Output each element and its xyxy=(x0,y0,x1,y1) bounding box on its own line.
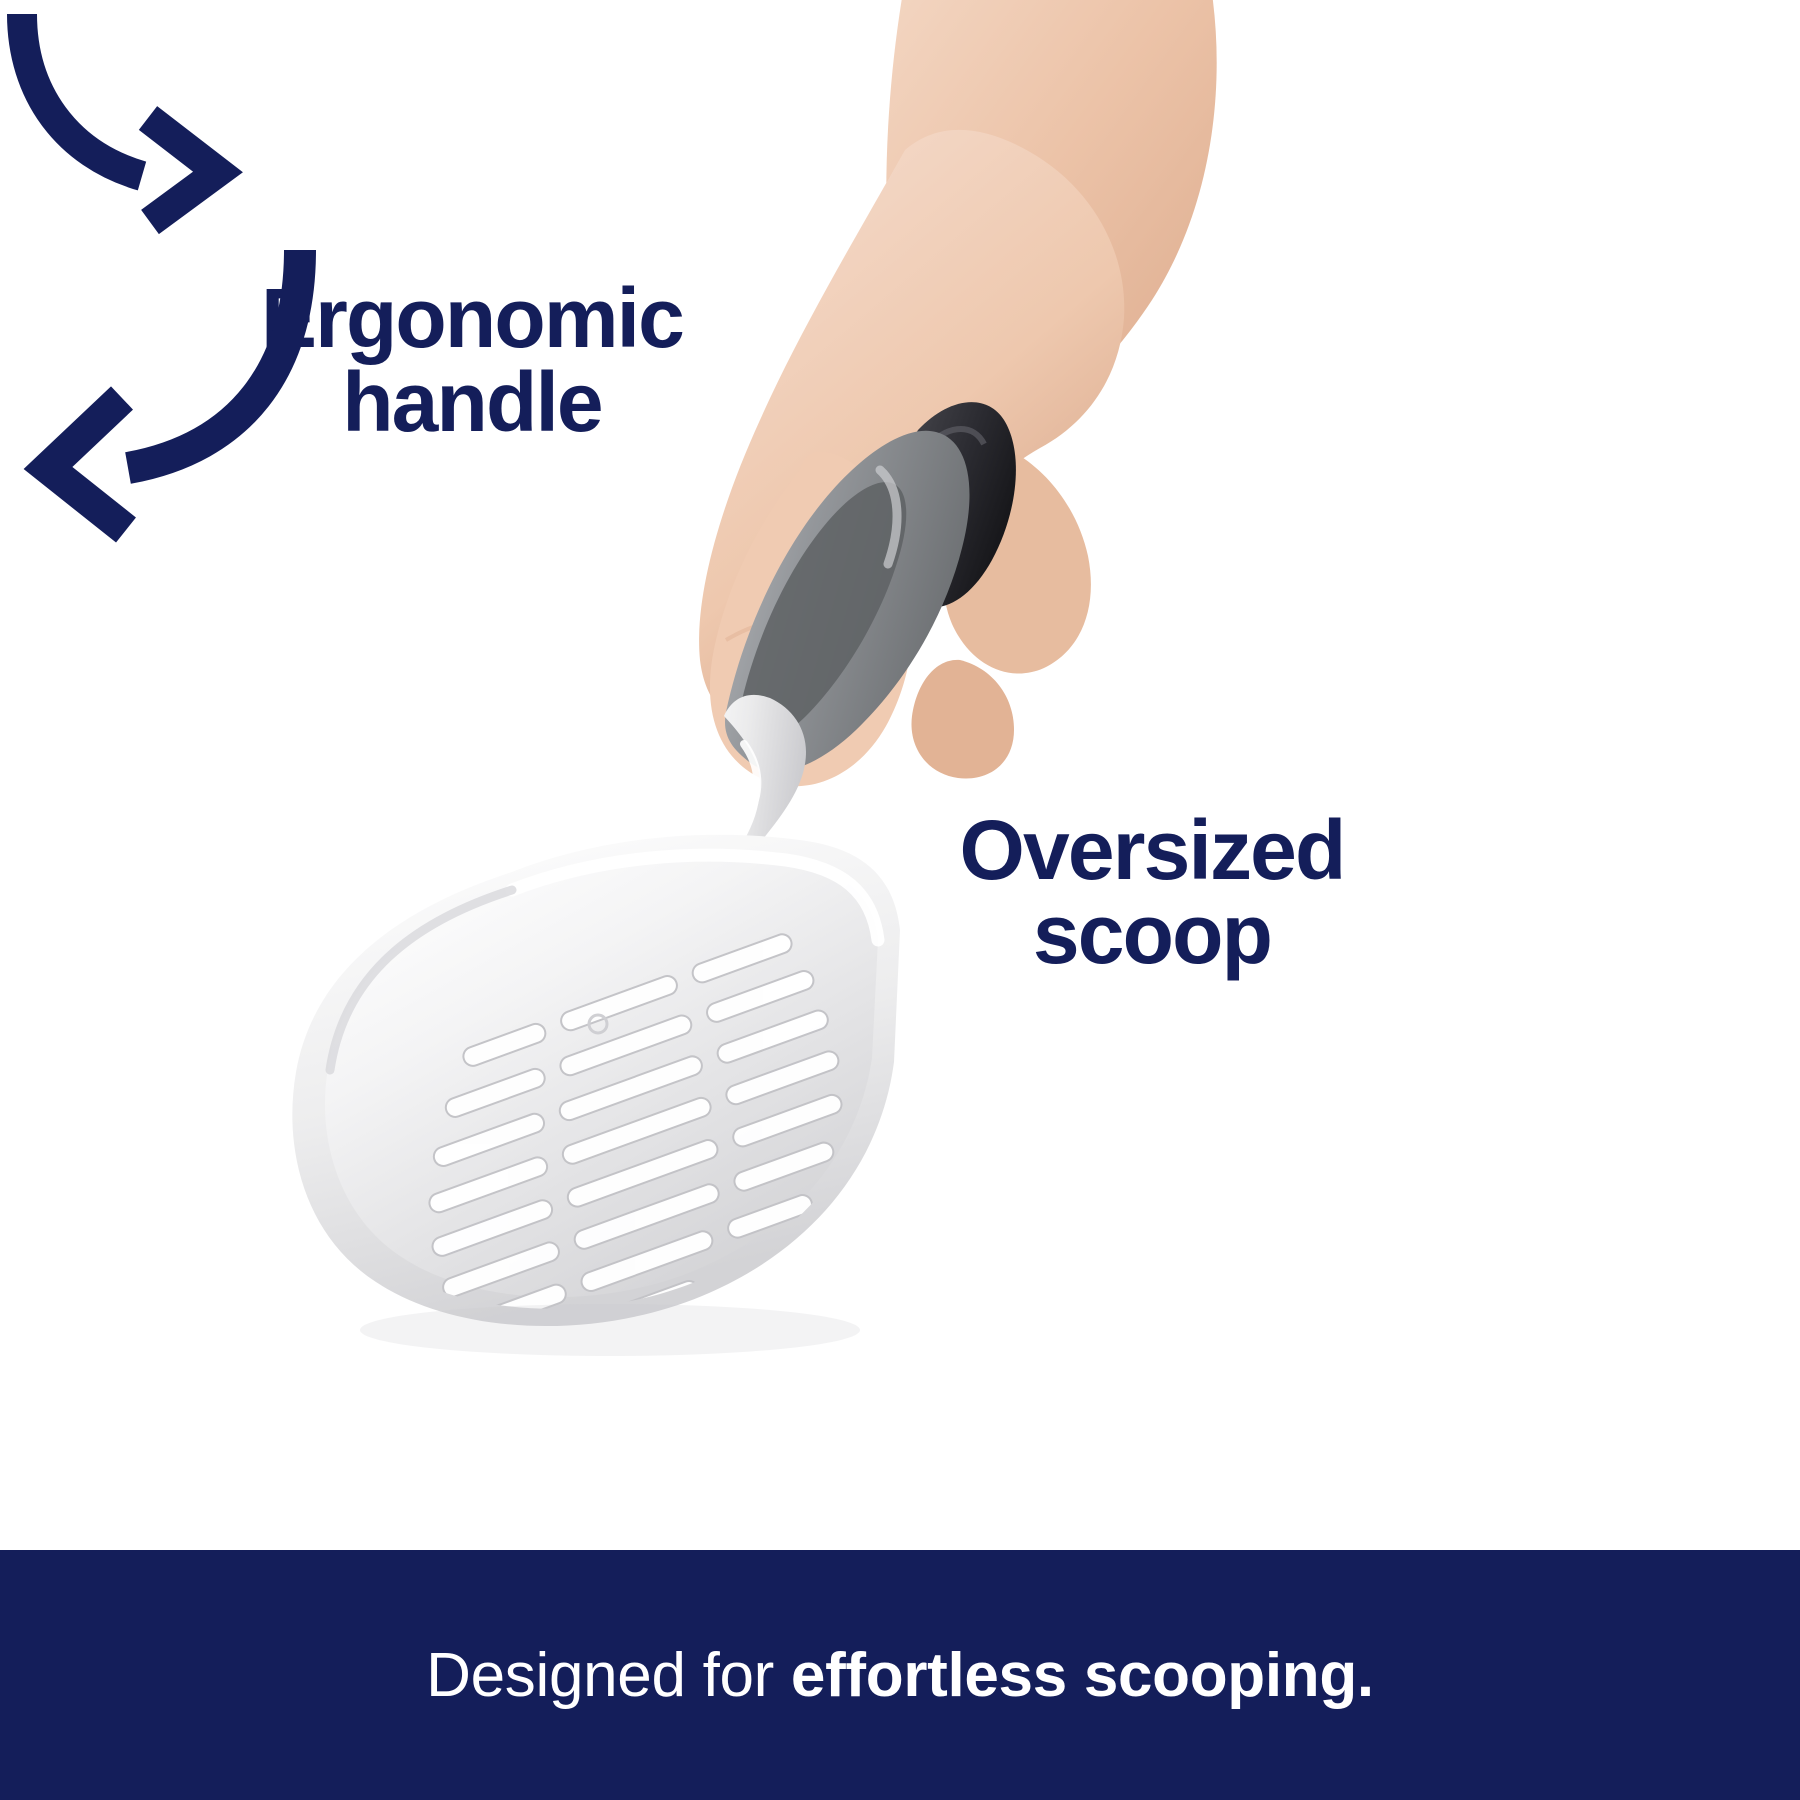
callout-label-oversized-scoop: Oversized scoop xyxy=(902,808,1402,976)
scoop-basket xyxy=(292,835,902,1379)
bottom-banner: Designed for effortless scooping. xyxy=(0,1550,1800,1800)
banner-tagline-emphasis: effortless scooping. xyxy=(791,1641,1374,1710)
banner-tagline-prefix: Designed for xyxy=(426,1641,791,1710)
callout-arrow-ergonomic-handle xyxy=(0,0,300,230)
curved-arrow-left-down-icon xyxy=(0,230,340,560)
curved-arrow-right-down-icon xyxy=(0,0,300,230)
callout-arrow-oversized-scoop xyxy=(0,230,340,560)
product-feature-image: Ergonomic handle Oversized scoop Designe… xyxy=(0,0,1800,1800)
banner-tagline: Designed for effortless scooping. xyxy=(426,1640,1374,1711)
